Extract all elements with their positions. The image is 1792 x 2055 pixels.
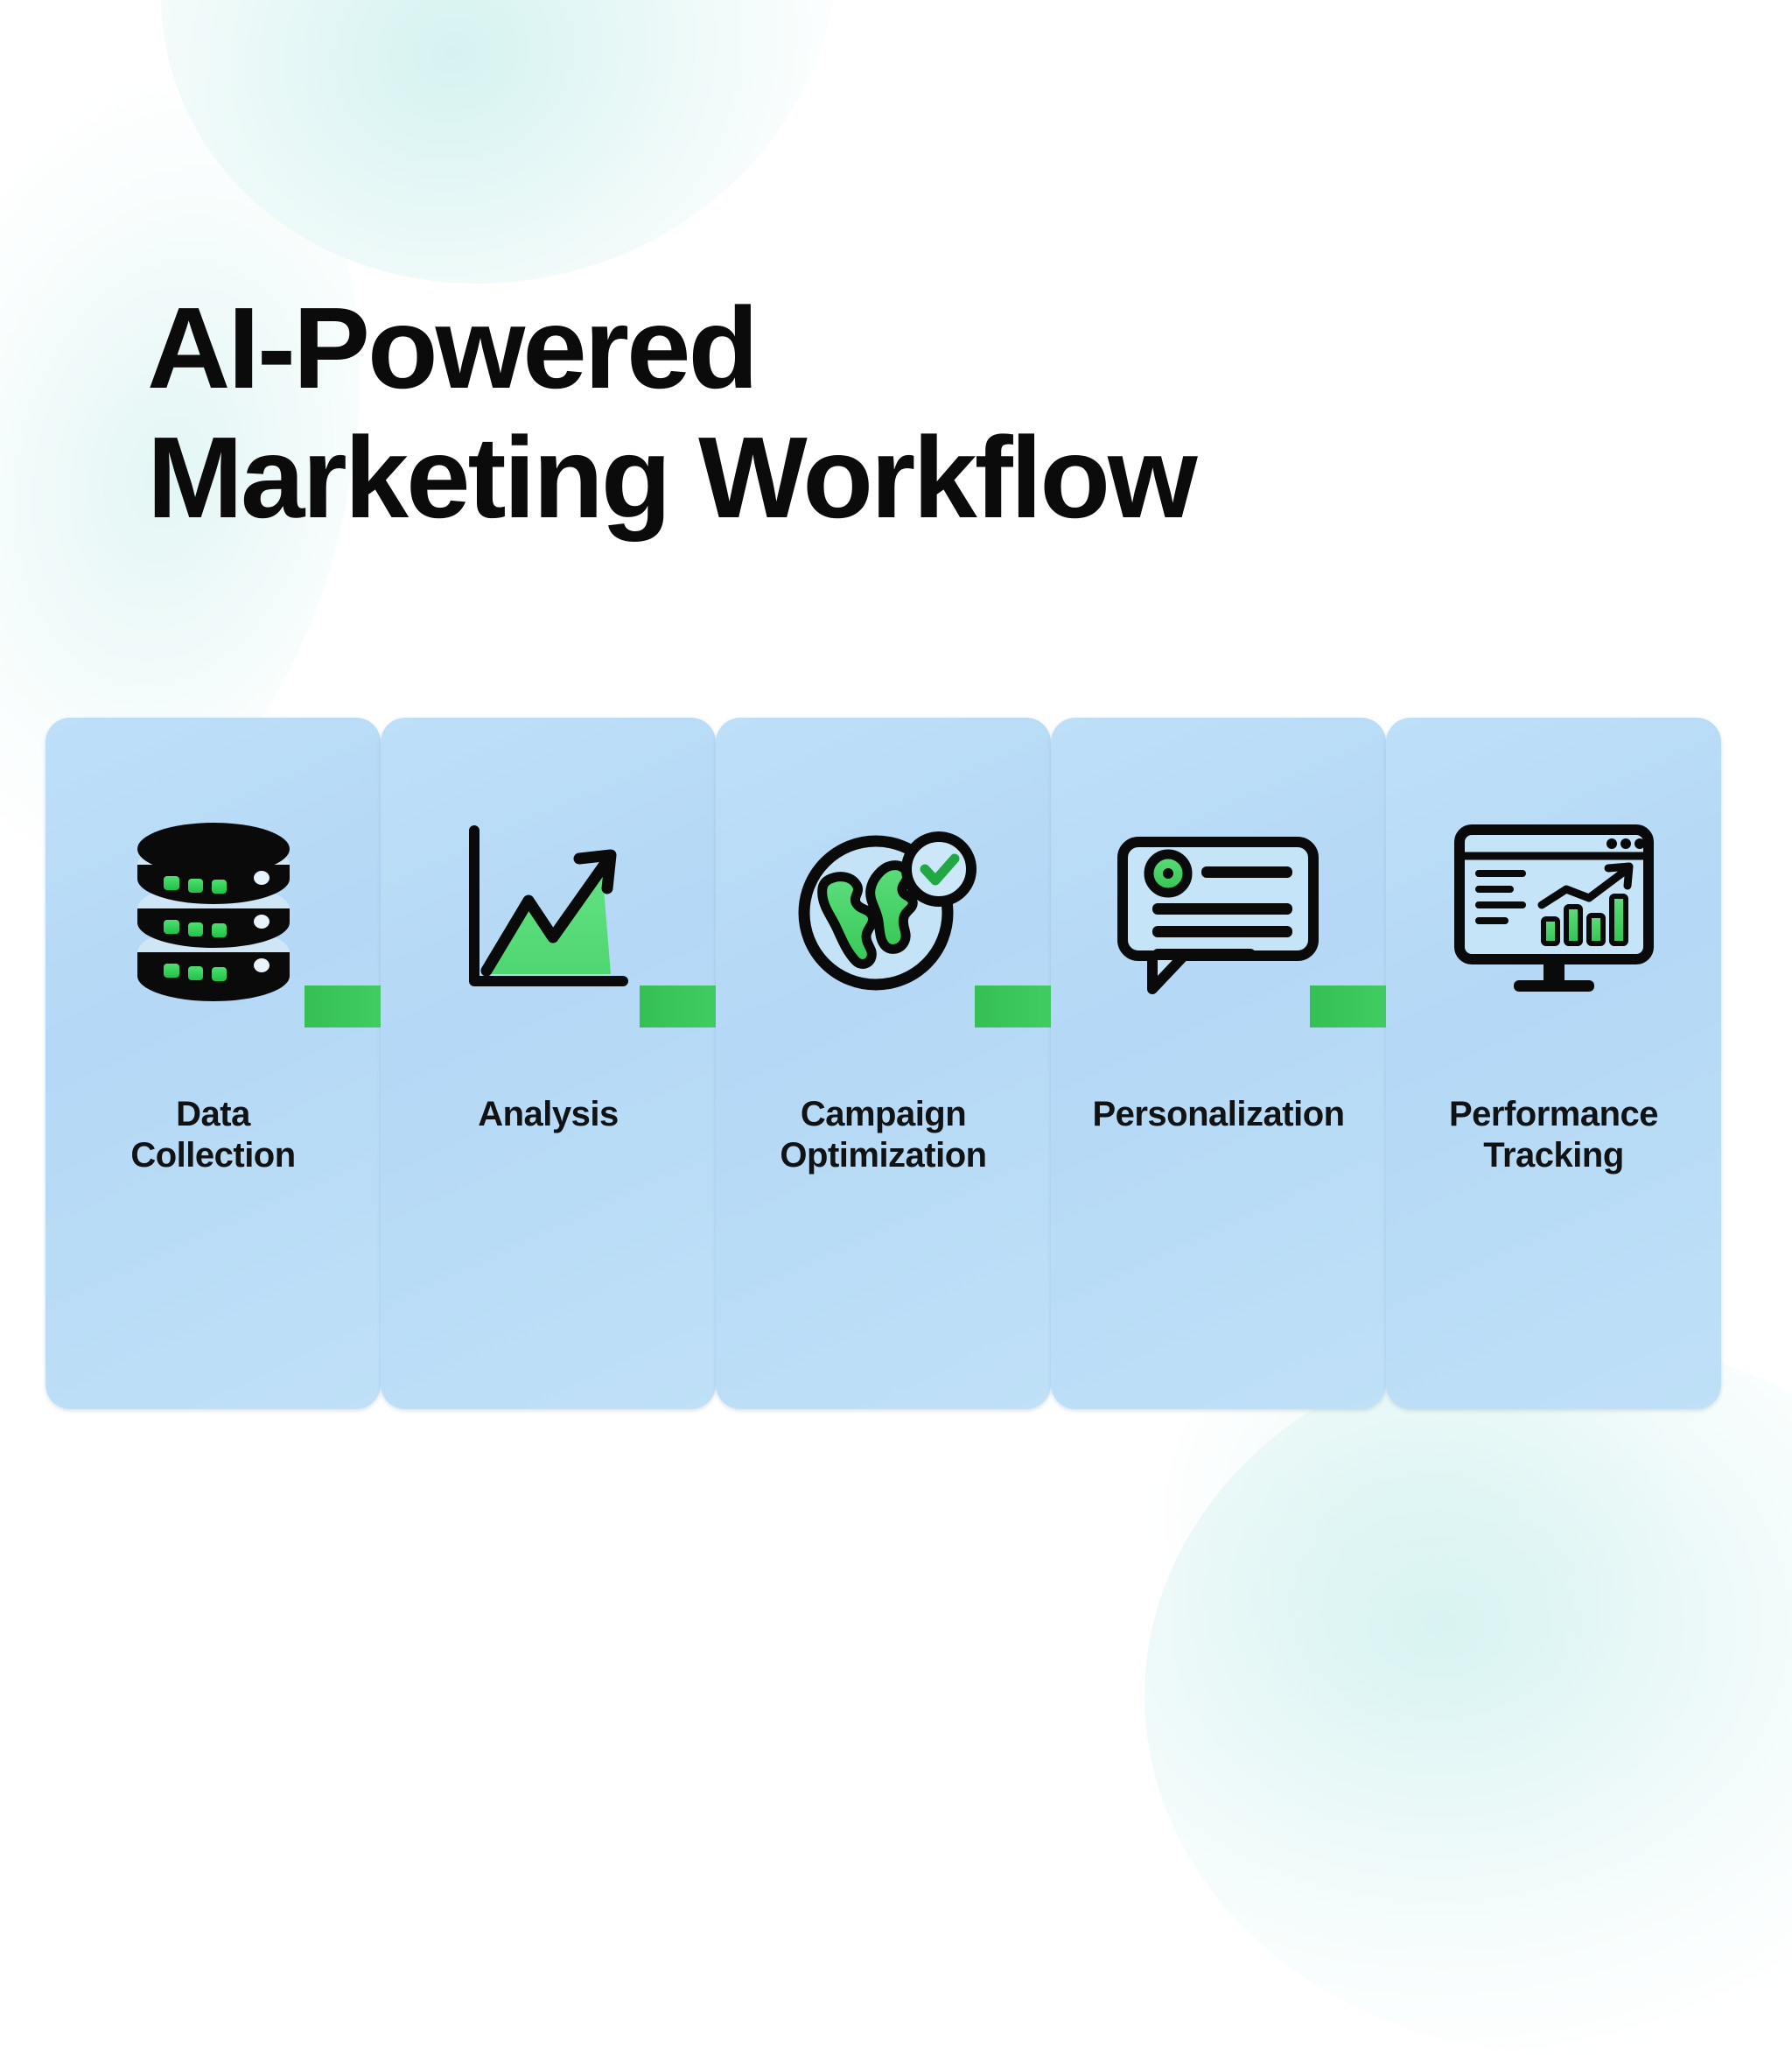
workflow-step-performance-tracking[interactable]: Performance Tracking [1386,718,1721,1409]
workflow-step-label: Analysis [381,1094,716,1135]
infographic-page: AI-Powered Marketing Workflow [0,0,1792,1792]
workflow-step-personalization[interactable]: Personalization [1051,718,1386,1409]
step-label-line-1: Data [51,1094,375,1135]
page-title-line-1: AI-Powered [147,284,1512,413]
step-label-line-1: Analysis [386,1094,710,1135]
page-title: AI-Powered Marketing Workflow [147,284,1512,543]
step-label-line-2: Optimization [721,1135,1046,1176]
step-label-line-1: Performance [1391,1094,1716,1135]
workflow-step-label: Personalization [1051,1094,1386,1135]
workflow-step-data-collection[interactable]: Data Collection [45,718,381,1409]
workflow-diagram: Data Collection [45,718,1750,1409]
workflow-step-campaign-optimization[interactable]: Campaign Optimization [716,718,1051,1409]
workflow-step-label: Campaign Optimization [716,1094,1051,1176]
workflow-step-analysis[interactable]: Analysis [381,718,716,1409]
page-title-line-2: Marketing Workflow [147,413,1512,543]
step-label-line-1: Personalization [1056,1094,1381,1135]
dashboard-monitor-icon [1386,718,1721,1094]
workflow-step-label: Performance Tracking [1386,1094,1721,1176]
workflow-step-label: Data Collection [45,1094,381,1176]
step-label-line-2: Tracking [1391,1135,1716,1176]
step-label-line-1: Campaign [721,1094,1046,1135]
step-label-line-2: Collection [51,1135,375,1176]
